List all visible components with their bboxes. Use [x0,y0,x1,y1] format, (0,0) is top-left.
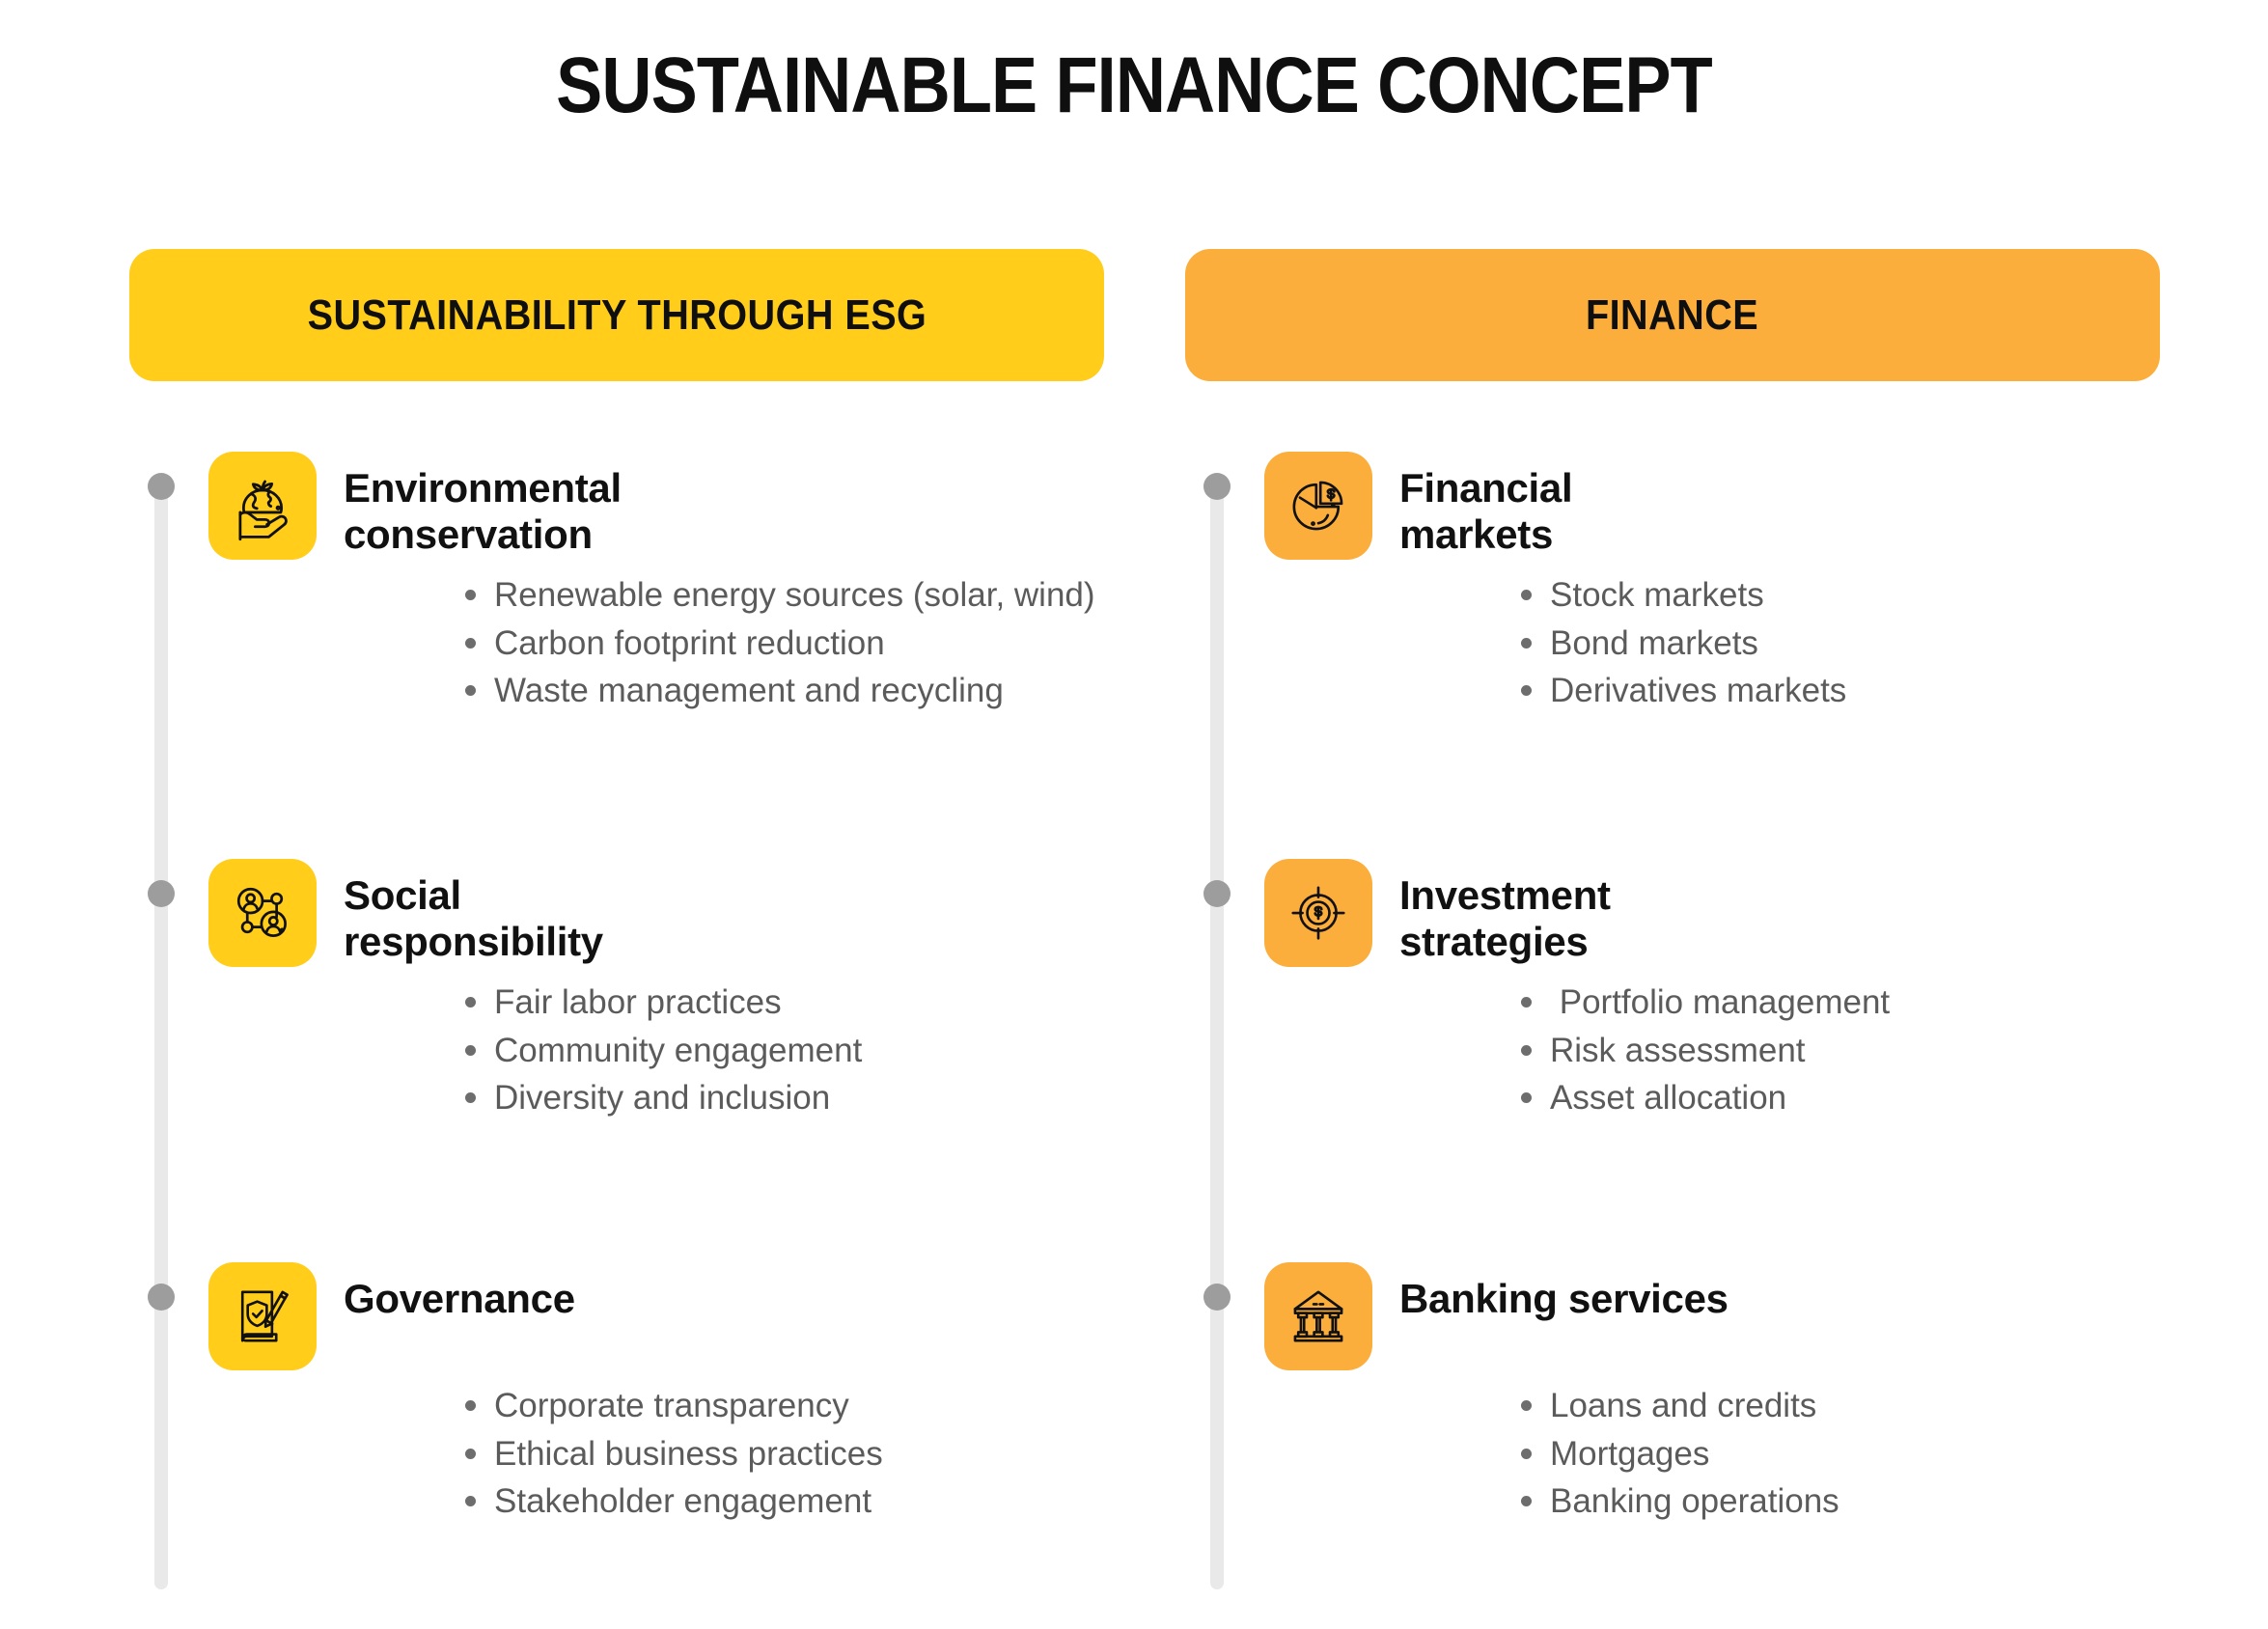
list-item: Derivatives markets [1515,667,2160,715]
banner-finance: FINANCE [1185,249,2160,381]
list-item: Fair labor practices [459,979,1104,1027]
block-header: Financial markets [1264,452,2160,560]
list-item: Asset allocation [1515,1074,2160,1122]
timeline-track-right [1210,475,1224,1589]
block-governance: Governance Corporate transparency Ethica… [208,1262,1104,1526]
hand-holding-earth-icon [208,452,317,560]
block-title: Investment strategies [1399,859,1611,965]
list-item: Bond markets [1515,620,2160,668]
block-header: Banking services [1264,1262,2160,1370]
block-environmental-conservation: Environmental conservation Renewable ene… [208,452,1104,715]
list-item: Mortgages [1515,1430,2160,1478]
page-title: SUSTAINABLE FINANCE CONCEPT [136,41,2132,131]
list-item: Portfolio management [1515,979,2160,1027]
target-dollar-icon [1264,859,1372,967]
timeline-dot [1203,1284,1231,1311]
block-title: Environmental conservation [344,452,622,558]
bullet-list: Corporate transparency Ethical business … [208,1382,1104,1526]
bullet-list: Loans and credits Mortgages Banking oper… [1264,1382,2160,1526]
infographic-page: SUSTAINABLE FINANCE CONCEPT SUSTAINABILI… [0,0,2268,1629]
bank-building-icon [1264,1262,1372,1370]
timeline-dot [148,473,175,500]
list-item: Renewable energy sources (solar, wind) [459,571,1104,620]
list-item: Diversity and inclusion [459,1074,1104,1122]
bullet-list: Portfolio management Risk assessment Ass… [1264,979,2160,1122]
list-item: Corporate transparency [459,1382,1104,1430]
block-header: Governance [208,1262,1104,1370]
people-network-icon [208,859,317,967]
bullet-list: Stock markets Bond markets Derivatives m… [1264,571,2160,715]
timeline-track-left [154,475,168,1589]
list-item: Community engagement [459,1027,1104,1075]
list-item: Risk assessment [1515,1027,2160,1075]
block-header: Social responsibility [208,859,1104,967]
document-shield-pen-icon [208,1262,317,1370]
list-item: Carbon footprint reduction [459,620,1104,668]
timeline-dot [148,1284,175,1311]
pie-chart-dollar-icon [1264,452,1372,560]
block-header: Investment strategies [1264,859,2160,967]
block-banking-services: Banking services Loans and credits Mortg… [1264,1262,2160,1526]
banner-label: FINANCE [1586,291,1758,340]
bullet-list: Renewable energy sources (solar, wind) C… [208,571,1104,715]
column-finance: FINANCE [1185,249,2160,1629]
banner-sustainability: SUSTAINABILITY THROUGH ESG [129,249,1104,381]
list-item: Stock markets [1515,571,2160,620]
list-item: Loans and credits [1515,1382,2160,1430]
list-item: Banking operations [1515,1477,2160,1526]
block-title: Financial markets [1399,452,1572,558]
list-item: Waste management and recycling [459,667,1104,715]
columns-container: SUSTAINABILITY THROUGH ESG [0,249,2268,1629]
column-sustainability: SUSTAINABILITY THROUGH ESG [129,249,1104,1629]
timeline-dot [1203,473,1231,500]
bullet-list: Fair labor practices Community engagemen… [208,979,1104,1122]
timeline-dot [148,880,175,907]
banner-label: SUSTAINABILITY THROUGH ESG [307,291,927,340]
block-title: Social responsibility [344,859,603,965]
list-item: Ethical business practices [459,1430,1104,1478]
block-investment-strategies: Investment strategies Portfolio manageme… [1264,859,2160,1122]
timeline-dot [1203,880,1231,907]
list-item: Stakeholder engagement [459,1477,1104,1526]
block-social-responsibility: Social responsibility Fair labor practic… [208,859,1104,1122]
block-header: Environmental conservation [208,452,1104,560]
block-title: Governance [344,1262,575,1322]
block-financial-markets: Financial markets Stock markets Bond mar… [1264,452,2160,715]
block-title: Banking services [1399,1262,1729,1322]
